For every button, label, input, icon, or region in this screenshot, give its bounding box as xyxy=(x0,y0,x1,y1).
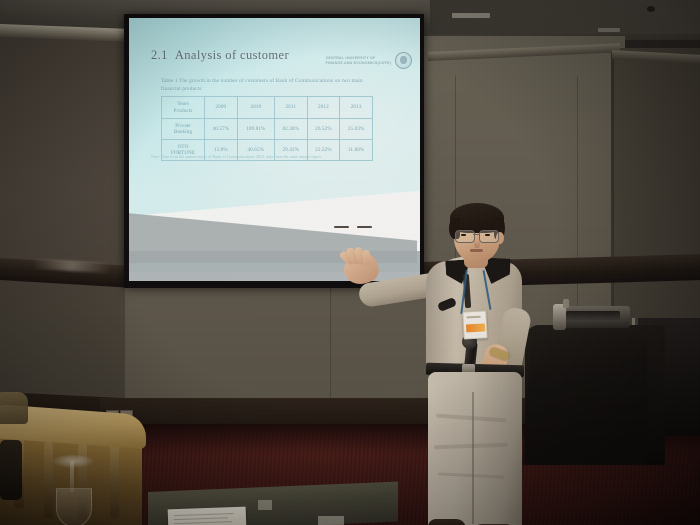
presenter-mouth xyxy=(470,249,483,252)
eyeglass-lens xyxy=(455,230,475,243)
table-col-header: 2011 xyxy=(274,97,307,119)
foreground-paper-secondary xyxy=(318,516,344,525)
presentation-photo-scene: 2.1Analysis of customer CENTRAL UNIVERSI… xyxy=(0,0,700,525)
slide-title-text: Analysis of customer xyxy=(175,48,289,62)
university-logo-text: CENTRAL UNIVERSITY OF FINANCE AND ECONOM… xyxy=(326,56,391,66)
table-cell: 26.52% xyxy=(307,119,340,140)
table-col-header: 2012 xyxy=(307,97,340,119)
org-line-2: FINANCE AND ECONOMICS(CUFE) xyxy=(326,61,391,66)
av-mixer-faceplate xyxy=(566,311,620,320)
av-control-knob-small-icon xyxy=(563,299,569,308)
table-cell: 40.57% xyxy=(205,119,238,140)
conference-badge xyxy=(462,310,487,339)
slide-title: 2.1Analysis of customer xyxy=(151,48,289,63)
wine-glass-bowl xyxy=(56,488,92,525)
table-cell: 25.03% xyxy=(340,119,373,140)
table-col-header: 2009 xyxy=(205,97,238,119)
table-header-row: Years Products 2009 2010 2011 2012 2013 xyxy=(162,97,373,119)
trouser-seam xyxy=(472,392,474,524)
table-row-header: Private Banking xyxy=(162,119,205,140)
table-corner-cell: Years Products xyxy=(162,97,205,119)
corner-label-bottom: Products xyxy=(163,108,203,115)
presenter-finger xyxy=(362,250,370,266)
presenter xyxy=(330,216,540,525)
slide-table-caption: Table 1 The growth in the number of cust… xyxy=(161,78,371,93)
table-col-header: 2010 xyxy=(237,97,274,119)
ceiling-fixture-icon xyxy=(647,6,655,12)
slide-title-number: 2.1 xyxy=(151,48,168,62)
badge-color-band xyxy=(465,324,484,333)
presenter-shoe xyxy=(428,519,466,525)
foreground-small-object xyxy=(258,500,272,510)
presenter-eyebrow xyxy=(357,226,372,228)
table-row: Private Banking 40.57% 109.81% 82.38% 26… xyxy=(162,119,373,140)
table-col-header: 2013 xyxy=(340,97,373,119)
wall-left xyxy=(0,30,132,430)
presenter-eyebrow xyxy=(334,226,349,228)
ceiling-vent-secondary-icon xyxy=(598,28,620,32)
equipment-table-cloth xyxy=(522,330,647,465)
table-object-dark xyxy=(0,440,22,500)
table-cell: 109.81% xyxy=(237,119,274,140)
presenter-nose xyxy=(474,240,480,248)
table-object xyxy=(0,392,28,424)
university-seal-icon xyxy=(395,52,412,69)
eyeglass-bridge xyxy=(473,234,480,235)
badge-text-line xyxy=(467,316,481,318)
row-label-line2: Banking xyxy=(163,129,203,136)
slide-data-table: Years Products 2009 2010 2011 2012 2013 … xyxy=(161,96,373,161)
slide-footnote: Note: Data from the annual report of Ban… xyxy=(151,155,391,160)
university-logo: CENTRAL UNIVERSITY OF FINANCE AND ECONOM… xyxy=(326,52,412,69)
table-cell: 82.38% xyxy=(274,119,307,140)
foreground-papers xyxy=(168,507,247,525)
eyeglass-lens xyxy=(479,230,499,243)
ceiling-vent-icon xyxy=(452,13,490,18)
